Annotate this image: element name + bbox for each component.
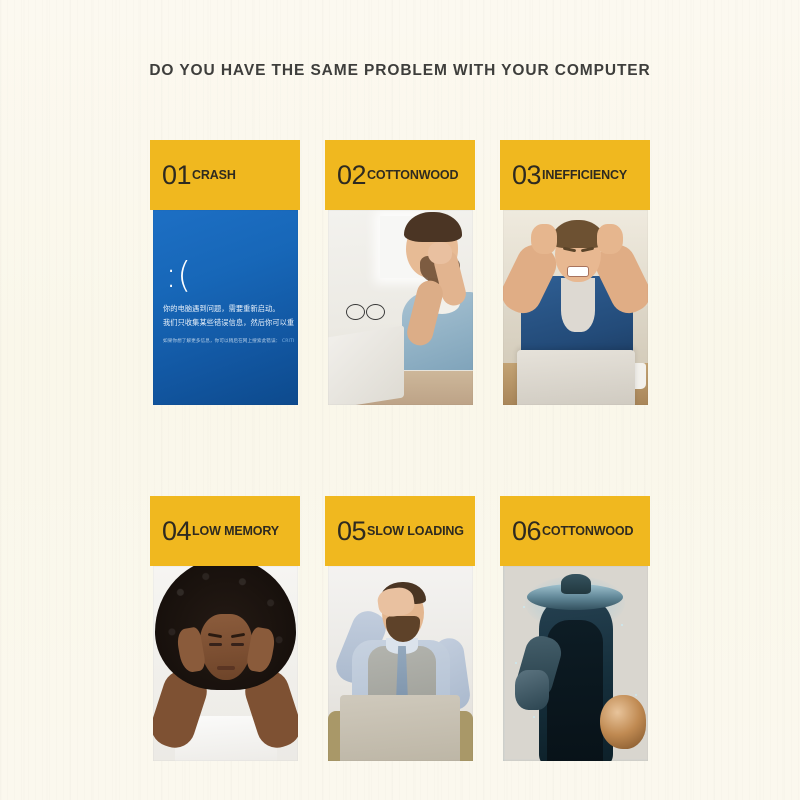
problem-card-02[interactable]: 02 COTTONWOOD: [325, 140, 475, 412]
card-label-01: CRASH: [192, 168, 236, 182]
card-media-01: :( 你的电脑遇到问题，需要重新启动。 我们只收集某些错误信息，然后你可以重新 …: [153, 210, 298, 405]
card-number-01: 01: [162, 162, 191, 189]
bsod-screen: :( 你的电脑遇到问题，需要重新启动。 我们只收集某些错误信息，然后你可以重新 …: [153, 210, 298, 405]
bsod-message-line-2: 我们只收集某些错误信息，然后你可以重新: [163, 318, 294, 328]
problem-card-01[interactable]: 01 CRASH :( 你的电脑遇到问题，需要重新启动。 我们只收集某些错误信息…: [150, 140, 300, 412]
card-header-04: 04 LOW MEMORY: [150, 496, 300, 566]
card-number-03: 03: [512, 162, 541, 189]
problem-card-03[interactable]: 03 INEFFICIENCY: [500, 140, 650, 412]
card-label-03: INEFFICIENCY: [542, 168, 627, 182]
problem-card-grid: 01 CRASH :( 你的电脑遇到问题，需要重新启动。 我们只收集某些错误信息…: [150, 140, 650, 768]
card-label-04: LOW MEMORY: [192, 524, 279, 538]
bsod-message-line-3: 如果你想了解更多信息，你可以稍后在网上搜索此错误： CRITICAL_STRUC…: [163, 338, 294, 344]
card-header-02: 02 COTTONWOOD: [325, 140, 475, 210]
bsod-message-line-1: 你的电脑遇到问题，需要重新启动。: [163, 304, 294, 314]
eyeglasses-icon: [346, 300, 386, 320]
photo-frustrated-man-at-laptop: [503, 210, 648, 405]
card-label-05: SLOW LOADING: [367, 524, 464, 538]
page-title: DO YOU HAVE THE SAME PROBLEM WITH YOUR C…: [0, 62, 800, 80]
card-header-01: 01 CRASH: [150, 140, 300, 210]
problem-card-05[interactable]: 05 SLOW LOADING: [325, 496, 475, 768]
sad-face-icon: :(: [165, 258, 191, 294]
card-media-04: [153, 566, 298, 761]
artwork-dark-fantasy-character: [503, 566, 648, 761]
card-header-05: 05 SLOW LOADING: [325, 496, 475, 566]
card-number-06: 06: [512, 518, 541, 545]
bsod-stop-code: CRITICAL_STRUCTURE_COR: [282, 339, 294, 344]
problem-card-06[interactable]: 06 COTTONWOOD: [500, 496, 650, 768]
card-media-06: [503, 566, 648, 761]
card-media-02: [328, 210, 473, 405]
bsod-hint-text: 如果你想了解更多信息，你可以稍后在网上搜索此错误：: [163, 339, 280, 344]
card-number-05: 05: [337, 518, 366, 545]
photo-man-hand-on-forehead: [328, 566, 473, 761]
card-label-06: COTTONWOOD: [542, 524, 633, 538]
card-label-02: COTTONWOOD: [367, 168, 458, 182]
card-header-06: 06 COTTONWOOD: [500, 496, 650, 566]
card-media-03: [503, 210, 648, 405]
card-header-03: 03 INEFFICIENCY: [500, 140, 650, 210]
problem-card-04[interactable]: 04 LOW MEMORY: [150, 496, 300, 768]
card-media-05: [328, 566, 473, 761]
card-number-02: 02: [337, 162, 366, 189]
card-number-04: 04: [162, 518, 191, 545]
photo-tired-man-with-glasses: [328, 210, 473, 405]
photo-woman-with-headache: [153, 566, 298, 761]
